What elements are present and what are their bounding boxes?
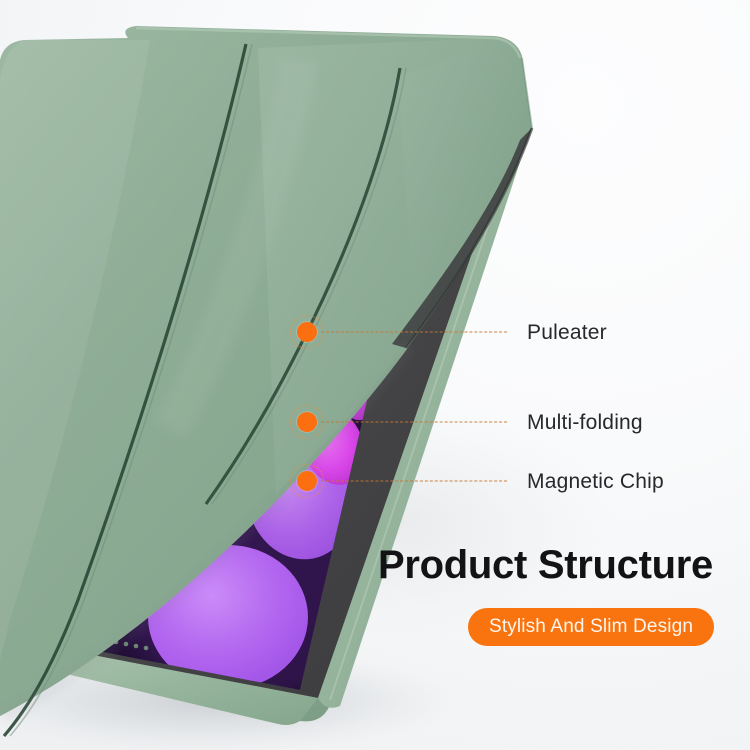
product-image-scene: Puleater Multi-folding Magnetic Chip Pro… [0, 0, 750, 750]
callout-leader-line-1 [321, 332, 507, 333]
callout-dot-3 [297, 471, 317, 491]
callout-leader-line-2 [321, 422, 507, 423]
callout-label-multi-folding: Multi-folding [527, 411, 643, 435]
product-structure-title: Product Structure [378, 543, 713, 588]
callout-dot-2 [297, 412, 317, 432]
callout-dot-1 [297, 322, 317, 342]
callout-label-magnetic-chip: Magnetic Chip [527, 470, 664, 494]
tagline-badge: Stylish And Slim Design [468, 608, 714, 646]
callout-label-puleater: Puleater [527, 321, 607, 345]
callout-leader-line-3 [321, 481, 507, 482]
